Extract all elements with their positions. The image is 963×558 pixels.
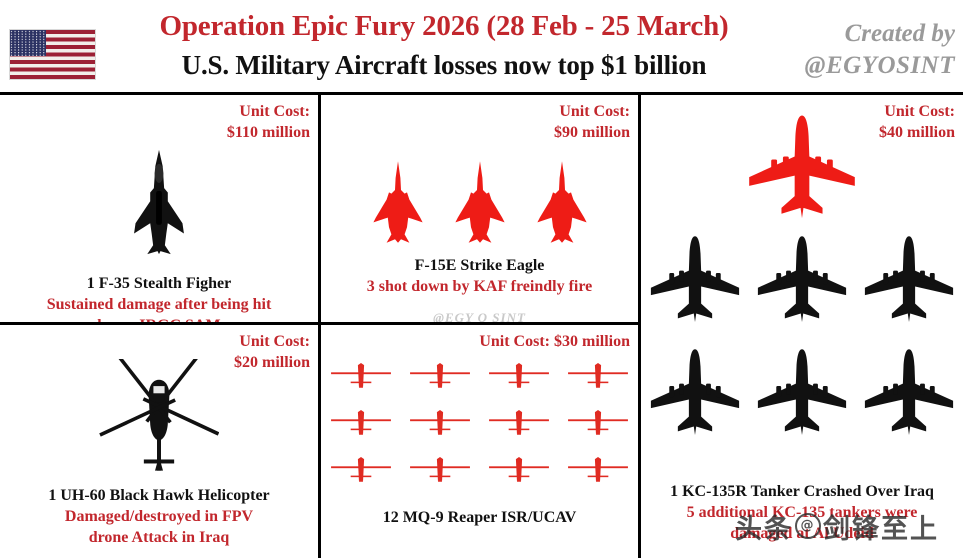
unit-cost-f15e: Unit Cost: $90 million (554, 101, 630, 143)
icon-group-f35 (0, 143, 318, 261)
mq9-reaper-drone-icon (330, 409, 392, 441)
credit-line-2: @EGYOSINT (805, 50, 955, 82)
osint-watermark: @EGY O SINT (321, 310, 638, 325)
kc135r-tanker-icon (742, 114, 862, 224)
flag-stars (10, 30, 46, 56)
flag-canton (10, 30, 46, 56)
us-flag-icon (9, 29, 96, 80)
kc135r-tanker-icon (860, 348, 958, 440)
uh60-black-hawk-helicopter-icon (99, 359, 219, 485)
f15e-strike-eagle-icon (447, 159, 513, 251)
unit-cost-f35: Unit Cost: $110 million (227, 101, 310, 143)
kc135-row (641, 348, 963, 440)
mq9-reaper-drone-icon (488, 456, 550, 488)
caption-main: 12 MQ-9 Reaper ISR/UCAV (321, 507, 638, 528)
mq9-reaper-drone-icon (567, 362, 629, 394)
title-line-1: Operation Epic Fury 2026 (28 Feb - 25 Ma… (104, 6, 784, 46)
caption-f15e: F-15E Strike Eagle 3 shot down by KAF fr… (321, 255, 638, 297)
icon-group-kc135r-lost (641, 109, 963, 229)
credit-line-1: Created by (805, 18, 955, 50)
f15e-strike-eagle-icon (365, 159, 431, 251)
icon-group-mq9 (321, 355, 638, 495)
kc135-row (641, 235, 963, 327)
credit-block: Created by @EGYOSINT (805, 18, 955, 82)
unit-cost-value: $90 million (554, 122, 630, 143)
kc135r-tanker-icon (646, 235, 744, 327)
mq9-reaper-drone-icon (409, 409, 471, 441)
caption-sub-1: 5 additional KC-135 tankers were (641, 502, 963, 523)
mq9-row (321, 362, 638, 394)
caption-sub-1: 3 shot down by KAF freindly fire (321, 276, 638, 297)
caption-sub-2: drone Attack in Iraq (0, 527, 318, 548)
caption-main: 1 KC-135R Tanker Crashed Over Iraq (641, 481, 963, 502)
caption-main: 1 UH-60 Black Hawk Helicopter (0, 485, 318, 506)
caption-kc135r: 1 KC-135R Tanker Crashed Over Iraq 5 add… (641, 481, 963, 544)
kc135r-tanker-icon (753, 348, 851, 440)
f15e-strike-eagle-icon (529, 159, 595, 251)
unit-cost-label: Unit Cost: (554, 101, 630, 122)
unit-cost-label: Unit Cost: $30 million (479, 331, 630, 352)
mq9-reaper-drone-icon (488, 362, 550, 394)
caption-sub-2: by an IRGC SAM (0, 315, 318, 325)
caption-main: 1 F-35 Stealth Figher (0, 273, 318, 294)
mq9-reaper-drone-icon (567, 409, 629, 441)
panel-mq9: Unit Cost: $30 million (321, 325, 641, 558)
mq9-reaper-drone-icon (488, 409, 550, 441)
mq9-reaper-drone-icon (330, 362, 392, 394)
kc135r-tanker-icon (646, 348, 744, 440)
icon-group-f15e (321, 157, 638, 253)
caption-sub-1: Sustained damage after being hit (0, 294, 318, 315)
caption-main: F-15E Strike Eagle (321, 255, 638, 276)
caption-mq9: 12 MQ-9 Reaper ISR/UCAV (321, 507, 638, 528)
panel-f35: Unit Cost: $110 million 1 F-35 Stealth F… (0, 95, 321, 325)
unit-cost-value: $110 million (227, 122, 310, 143)
caption-uh60: 1 UH-60 Black Hawk Helicopter Damaged/de… (0, 485, 318, 548)
mq9-reaper-drone-icon (330, 456, 392, 488)
f35-stealth-fighter-icon (122, 147, 196, 257)
unit-cost-label: Unit Cost: (227, 101, 310, 122)
mq9-reaper-drone-icon (409, 456, 471, 488)
title-line-2: U.S. Military Aircraft losses now top $1… (104, 46, 784, 84)
caption-f35: 1 F-35 Stealth Figher Sustained damage a… (0, 273, 318, 325)
icon-group-uh60 (0, 357, 318, 487)
mq9-row (321, 456, 638, 488)
mq9-reaper-drone-icon (567, 456, 629, 488)
panel-uh60: Unit Cost: $20 million (0, 325, 321, 558)
caption-sub-1: Damaged/destroyed in FPV (0, 506, 318, 527)
page-title: Operation Epic Fury 2026 (28 Feb - 25 Ma… (104, 6, 784, 84)
panel-kc135r: Unit Cost: $40 million (641, 95, 963, 558)
caption-sub-2: damaged at Al Udeid (641, 523, 963, 544)
panel-f15e: Unit Cost: $90 million F-15E Strike E (321, 95, 641, 325)
unit-cost-label: Unit Cost: (234, 331, 310, 352)
infographic-root: Operation Epic Fury 2026 (28 Feb - 25 Ma… (0, 0, 963, 558)
mq9-row (321, 409, 638, 441)
kc135r-tanker-icon (860, 235, 958, 327)
header: Operation Epic Fury 2026 (28 Feb - 25 Ma… (0, 0, 963, 95)
icon-group-kc135r-damaged (641, 225, 963, 450)
mq9-reaper-drone-icon (409, 362, 471, 394)
unit-cost-mq9: Unit Cost: $30 million (479, 331, 630, 352)
kc135r-tanker-icon (753, 235, 851, 327)
